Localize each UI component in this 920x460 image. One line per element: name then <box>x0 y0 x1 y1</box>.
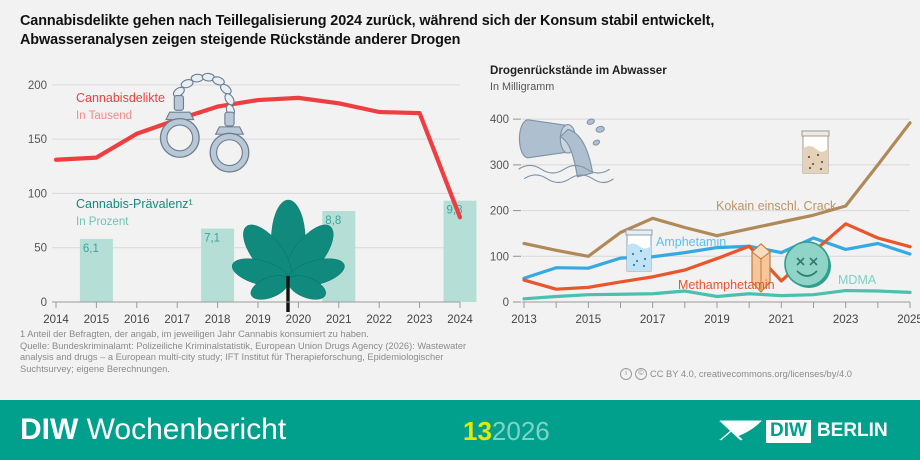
powder-speck <box>808 156 810 158</box>
series-label-mdma: MDMA <box>838 273 877 287</box>
water-wave <box>519 165 610 173</box>
powder-speck <box>809 167 811 169</box>
logo-diw-text: DIW <box>766 420 811 443</box>
x-axis-tick-label: 2017 <box>640 314 666 326</box>
source-line-1: Quelle: Bundeskriminalamt: Polizeiliche … <box>20 341 610 353</box>
series-label-methamphetamin: Methamphetamin <box>678 278 775 292</box>
y-axis-tick-label: 400 <box>490 114 509 126</box>
powder-speck <box>821 161 823 163</box>
mdma-pill-icon <box>785 242 831 288</box>
x-axis-tick-label: 2023 <box>407 314 433 326</box>
beaker-icon <box>626 230 652 271</box>
series-label-kokain: Kokain einschl. Crack <box>716 199 837 213</box>
beaker-particle <box>633 264 635 266</box>
left-chart-panel: 0501001502006,17,18,89,8CannabisdelikteI… <box>14 62 464 324</box>
x-axis-tick-label: 2019 <box>704 314 730 326</box>
page-title-line2: Abwasseranalysen zeigen steigende Rückst… <box>20 31 900 50</box>
footer-bar: DIW Wochenbericht 132026 DIW BERLIN <box>0 400 920 460</box>
x-axis-tick-label: 2022 <box>366 314 392 326</box>
right-chart-subheading: In Milligramm <box>490 81 554 93</box>
footnotes: 1 Anteil der Befragten, der angab, im je… <box>20 329 610 375</box>
x-axis-tick-label: 2017 <box>164 314 190 326</box>
cuff-ring-inner <box>167 125 193 151</box>
x-axis-tick-label: 2021 <box>326 314 352 326</box>
x-axis-tick-label: 2025 <box>897 314 920 326</box>
x-axis-tick-label: 2015 <box>576 314 602 326</box>
right-chart-heading: Drogenrückstände im Abwasser <box>490 64 667 77</box>
cc-info-icon: i <box>620 368 632 380</box>
y-axis-tick-label: 200 <box>490 206 509 218</box>
beaker-particle <box>644 258 646 260</box>
handcuffs-icon <box>160 73 248 172</box>
diw-swoosh-icon <box>718 418 764 444</box>
brand-wochenbericht: Wochenbericht <box>78 413 286 446</box>
y-axis-tick-label: 300 <box>490 160 509 172</box>
infographic-root: Cannabisdelikte gehen nach Teillegalisie… <box>0 0 920 460</box>
water-droplet <box>592 139 600 146</box>
footnote-1: 1 Anteil der Befragten, der angab, im je… <box>20 329 610 341</box>
series-unit-praevalenz: In Prozent <box>76 216 129 228</box>
cc-text: CC BY 4.0, creativecommons.org/licenses/… <box>650 369 852 379</box>
page-title: Cannabisdelikte gehen nach Teillegalisie… <box>20 12 900 50</box>
x-axis-tick-label: 2019 <box>245 314 271 326</box>
series-label-cannabisdelikte: Cannabisdelikte <box>76 91 165 105</box>
powder-speck <box>812 163 814 165</box>
beaker-rim <box>626 230 652 235</box>
x-axis-tick-label: 2021 <box>769 314 795 326</box>
series-unit-cannabisdelikte: In Tausend <box>76 110 132 122</box>
x-axis-tick-label: 2020 <box>286 314 312 326</box>
cocaine-bag-icon <box>802 131 829 173</box>
water-wave <box>524 175 613 183</box>
cc-license-icon: © <box>635 368 647 380</box>
page-title-line1: Cannabisdelikte gehen nach Teillegalisie… <box>20 12 900 31</box>
water-droplet <box>596 126 605 133</box>
cuff-ring-inner <box>217 140 243 166</box>
y-axis-tick-label: 200 <box>28 80 47 92</box>
right-chart-panel: Drogenrückstände im AbwasserIn Milligram… <box>478 62 918 324</box>
pill-body <box>785 242 829 286</box>
y-axis-tick-label: 150 <box>28 134 47 146</box>
x-axis-tick-label: 2013 <box>511 314 537 326</box>
y-axis-tick-label: 100 <box>490 251 509 263</box>
wastewater-chart: Drogenrückstände im AbwasserIn Milligram… <box>478 62 918 324</box>
leaf-stem <box>286 276 289 312</box>
creative-commons-notice: i © CC BY 4.0, creativecommons.org/licen… <box>620 368 852 380</box>
publication-title: DIW Wochenbericht <box>20 413 286 447</box>
bar-value-label: 7,1 <box>204 233 220 245</box>
cannabis-chart: 0501001502006,17,18,89,8CannabisdelikteI… <box>14 62 464 324</box>
bar-value-label: 6,1 <box>83 243 99 255</box>
powder-speck <box>820 168 822 170</box>
x-axis-tick-label: 2014 <box>43 314 69 326</box>
issue-info: 132026 <box>463 416 550 447</box>
powder-speck <box>817 154 819 156</box>
brand-diw: DIW <box>20 413 78 446</box>
issue-year: 2026 <box>492 416 550 446</box>
chain-link <box>191 74 204 82</box>
x-axis-tick-label: 2023 <box>833 314 859 326</box>
sewage-pipe-icon <box>519 118 614 182</box>
diw-berlin-logo: DIW BERLIN <box>718 418 888 444</box>
x-axis-tick-label: 2015 <box>84 314 110 326</box>
source-line-2: analysis and drugs – a European multi-ci… <box>20 352 610 364</box>
logo-berlin-text: BERLIN <box>817 421 888 441</box>
x-axis-tick-label: 2018 <box>205 314 231 326</box>
beaker-particle <box>640 250 642 252</box>
x-axis-tick-label: 2024 <box>447 314 473 326</box>
beaker-particle <box>636 260 638 262</box>
y-axis-tick-label: 50 <box>34 243 47 255</box>
x-axis-tick-label: 2016 <box>124 314 150 326</box>
source-line-3: Suchtsurvey; eigene Berechnungen. <box>20 364 610 376</box>
series-label-praevalenz: Cannabis-Prävalenz¹ <box>76 197 193 211</box>
beaker-particle <box>632 253 634 255</box>
series-label-amphetamin: Amphetamin <box>656 235 726 249</box>
beaker-particle <box>643 265 645 267</box>
issue-number: 13 <box>463 416 492 446</box>
cuff-lock <box>174 96 183 111</box>
cuff-lock <box>225 112 234 126</box>
y-axis-tick-label: 0 <box>503 297 509 309</box>
y-axis-tick-label: 100 <box>28 188 47 200</box>
bag-rim <box>802 131 829 136</box>
y-axis-tick-label: 0 <box>41 297 47 309</box>
